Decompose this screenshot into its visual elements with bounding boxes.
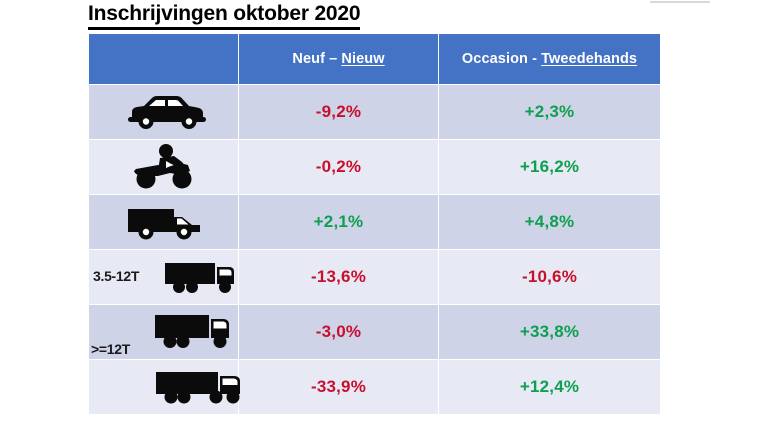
box-truck-icon bbox=[127, 250, 276, 304]
semi-trailer-truck-icon bbox=[127, 360, 276, 414]
value-occasion: +16,2% bbox=[439, 140, 661, 195]
row-label: 3.5-12T bbox=[93, 268, 139, 284]
value-new: -3,0% bbox=[239, 305, 439, 360]
value-occasion: +12,4% bbox=[439, 360, 661, 415]
table-row: -9,2% +2,3% bbox=[89, 85, 661, 140]
header-new-prefix: Neuf – bbox=[292, 51, 341, 67]
header-occasion-underlined: Tweedehands bbox=[541, 51, 637, 67]
vehicle-icon-cell bbox=[89, 140, 239, 195]
table-row: 3.5-12T -13,6% -10,6% bbox=[89, 250, 661, 305]
header-new-underlined: Nieuw bbox=[341, 51, 384, 67]
vehicle-icon-cell bbox=[89, 360, 239, 415]
value-new: +2,1% bbox=[239, 195, 439, 250]
slide-canvas: Inschrijvingen oktober 2020 Neuf – Nieuw… bbox=[0, 0, 762, 428]
page-title: Inschrijvingen oktober 2020 bbox=[88, 2, 360, 30]
value-occasion: +33,8% bbox=[439, 305, 661, 360]
vehicle-icon-cell: 3.5-12T bbox=[89, 250, 239, 305]
table-row: -33,9% +12,4% bbox=[89, 360, 661, 415]
header-vehicle-type bbox=[89, 34, 239, 85]
value-occasion: +2,3% bbox=[439, 85, 661, 140]
vehicle-icon-cell: >=12T bbox=[89, 305, 239, 360]
table-row: -0,2% +16,2% bbox=[89, 140, 661, 195]
value-occasion: +4,8% bbox=[439, 195, 661, 250]
value-new: -9,2% bbox=[239, 85, 439, 140]
row-label: >=12T bbox=[91, 341, 130, 357]
motorcycle-icon bbox=[89, 140, 238, 194]
header-occasion-prefix: Occasion - bbox=[462, 51, 541, 67]
table-row: +2,1% +4,8% bbox=[89, 195, 661, 250]
car-icon bbox=[89, 85, 238, 139]
vehicle-icon-cell bbox=[89, 195, 239, 250]
value-occasion: -10,6% bbox=[439, 250, 661, 305]
table-header-row: Neuf – Nieuw Occasion - Tweedehands bbox=[89, 34, 661, 85]
value-new: -0,2% bbox=[239, 140, 439, 195]
large-truck-icon bbox=[119, 305, 268, 359]
table-row: >=12T -3,0% +33,8% bbox=[89, 305, 661, 360]
edge-artifact bbox=[650, 1, 710, 3]
vehicle-icon-cell bbox=[89, 85, 239, 140]
header-new: Neuf – Nieuw bbox=[239, 34, 439, 85]
van-icon bbox=[89, 195, 238, 249]
header-occasion: Occasion - Tweedehands bbox=[439, 34, 661, 85]
registrations-table: Neuf – Nieuw Occasion - Tweedehands bbox=[88, 33, 661, 415]
